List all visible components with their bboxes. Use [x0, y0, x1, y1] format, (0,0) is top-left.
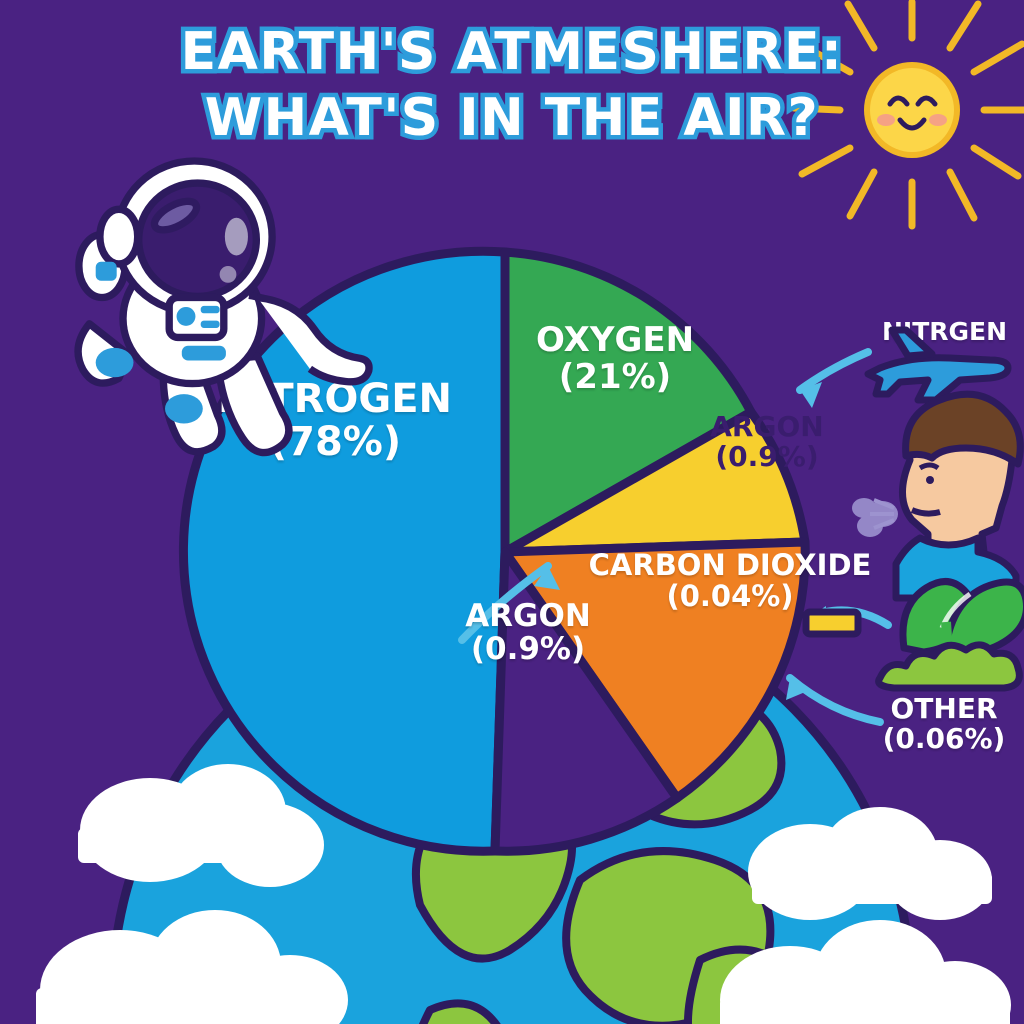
- poster-canvas: EARTH'S ATMESHERE: WHAT'S IN THE AIR? NI…: [0, 0, 1024, 1024]
- sprout-plant-icon: [0, 0, 1024, 1024]
